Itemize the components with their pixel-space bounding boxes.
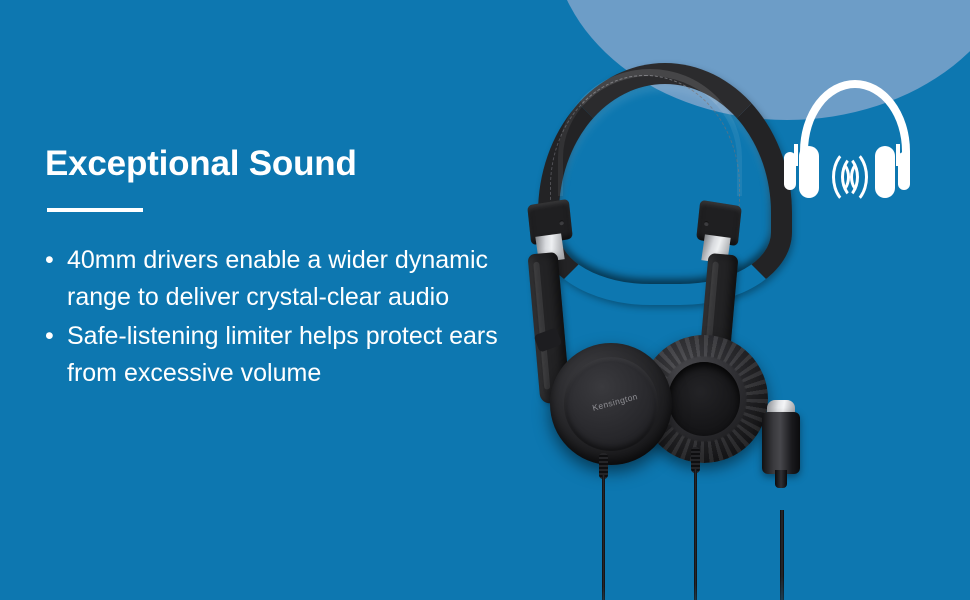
sound-wave-icon bbox=[832, 148, 874, 206]
product-feature-banner: Exceptional Sound • 40mm drivers enable … bbox=[0, 0, 970, 600]
icon-earpad-right bbox=[898, 152, 910, 190]
list-item: • 40mm drivers enable a wider dynamic ra… bbox=[45, 242, 545, 316]
icon-earpad-left bbox=[784, 152, 796, 190]
bullet-icon: • bbox=[45, 242, 54, 279]
usb-c-connector bbox=[762, 400, 800, 482]
title-underline-rule bbox=[47, 208, 143, 212]
yoke-screw-icon bbox=[559, 220, 564, 226]
usb-c-housing bbox=[762, 412, 800, 474]
feature-list: • 40mm drivers enable a wider dynamic ra… bbox=[45, 242, 545, 392]
list-item-text: Safe-listening limiter helps protect ear… bbox=[67, 322, 498, 387]
list-item-text: 40mm drivers enable a wider dynamic rang… bbox=[67, 246, 488, 311]
cushion-inner-opening bbox=[668, 362, 740, 436]
page-title: Exceptional Sound bbox=[45, 145, 545, 184]
copy-block: Exceptional Sound • 40mm drivers enable … bbox=[45, 145, 545, 394]
usb-c-strain-relief bbox=[775, 470, 787, 488]
icon-earcup-right bbox=[875, 146, 895, 198]
bullet-icon: • bbox=[45, 318, 54, 355]
earcup-left: Kensington bbox=[550, 343, 672, 465]
brand-label: Kensington bbox=[580, 388, 650, 416]
list-item: • Safe-listening limiter helps protect e… bbox=[45, 318, 545, 392]
headphones-sound-icon bbox=[772, 78, 922, 203]
arm-highlight bbox=[533, 262, 550, 390]
icon-earcup-left bbox=[799, 146, 819, 198]
headphone-cable bbox=[602, 475, 605, 600]
yoke-screw-icon bbox=[704, 221, 709, 227]
earcup-logo-plate: Kensington bbox=[564, 357, 658, 451]
headphone-cable bbox=[780, 510, 784, 600]
headphone-cable bbox=[694, 469, 697, 600]
